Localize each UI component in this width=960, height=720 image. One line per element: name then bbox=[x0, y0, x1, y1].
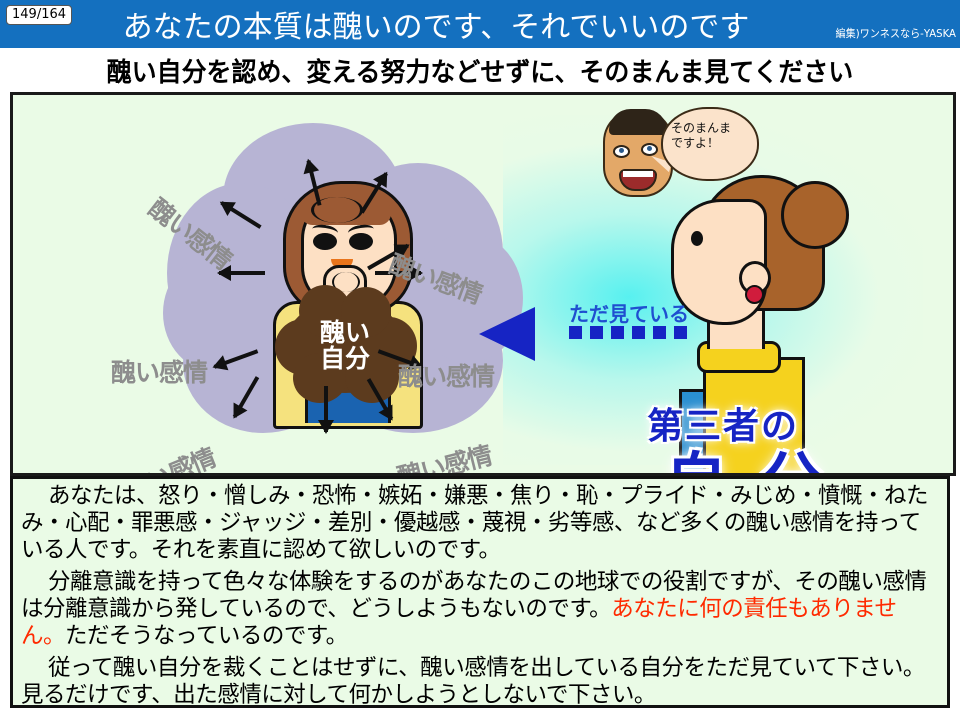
ugly-self-label: 醜い 自分 bbox=[275, 293, 415, 399]
girl-eye-right bbox=[349, 233, 373, 250]
body-paragraph-1: あなたは、怒り・憎しみ・恐怖・嫉妬・嫌悪・焦り・恥・プライド・みじめ・憤慨・ねた… bbox=[21, 483, 939, 564]
dash-square bbox=[569, 326, 582, 339]
man-hair bbox=[609, 109, 667, 135]
body-paragraph-3: 従って醜い自分を裁くことはせずに、醜い感情を出している自分をただ見ていて下さい。… bbox=[21, 655, 939, 709]
body-paragraph-2: 分離意識を持って色々な体験をするのがあなたのこの地球での役割ですが、その醜い感情… bbox=[21, 569, 939, 650]
emotion-label-5: 醜い感情 bbox=[118, 438, 221, 476]
slide-root: 149/164 あなたの本質は醜いのです、それでいいのです 編集)ワンネスなら-… bbox=[0, 0, 960, 720]
watching-dash-track bbox=[569, 326, 687, 339]
girl-eye-left bbox=[313, 233, 337, 250]
watching-label: ただ見ている bbox=[569, 298, 689, 327]
page-indicator: 149/164 bbox=[6, 5, 72, 25]
body-text-box: あなたは、怒り・憎しみ・恐怖・嫉妬・嫌悪・焦り・恥・プライド・みじめ・憤慨・ねた… bbox=[10, 476, 950, 708]
dash-square bbox=[653, 326, 666, 339]
paragraph-1-text: あなたは、怒り・憎しみ・恐怖・嫉妬・嫌悪・焦り・恥・プライド・みじめ・憤慨・ねた… bbox=[21, 483, 928, 563]
paragraph-3-text: 従って醜い自分を裁くことはせずに、醜い感情を出している自分をただ見ていて下さい。… bbox=[21, 655, 925, 708]
paragraph-2-text-b: ただそうなっているのです。 bbox=[65, 623, 348, 649]
speech-bubble-text: そのまんま ですよ！ bbox=[663, 121, 761, 151]
woman-eye bbox=[691, 231, 703, 246]
woman-earring bbox=[745, 285, 764, 304]
editor-credit: 編集)ワンネスなら-YASKA bbox=[836, 25, 956, 41]
watching-arrowhead-icon bbox=[479, 307, 535, 361]
man-eye-right bbox=[641, 143, 658, 156]
ugly-self-line2: 自分 bbox=[320, 346, 370, 372]
emotion-label-4: 醜い感情 bbox=[398, 357, 494, 393]
emotion-label-3: 醜い感情 bbox=[111, 353, 207, 389]
page-title: あなたの本質は醜いのです、それでいいのです bbox=[86, 1, 786, 47]
dash-square bbox=[590, 326, 603, 339]
ugly-self-line1: 醜い bbox=[320, 320, 370, 346]
man-eye-left bbox=[613, 145, 630, 158]
illustration-panel: 醜い 自分 醜い感情 醜い感情 醜い感情 醜い感情 醜い感情 醜い感情 bbox=[10, 92, 956, 476]
third-party-line2: 自 分 bbox=[665, 431, 829, 476]
man-mouth bbox=[619, 169, 657, 191]
woman-hair-bun bbox=[781, 181, 849, 249]
dash-square bbox=[632, 326, 645, 339]
emotion-arrow-5 bbox=[219, 271, 265, 275]
speech-line-2: ですよ！ bbox=[671, 136, 761, 151]
dash-square bbox=[674, 326, 687, 339]
speech-line-1: そのまんま bbox=[671, 121, 761, 136]
subtitle: 醜い自分を認め、変える努力などせずに、そのまんま見てください bbox=[19, 50, 941, 90]
emotion-arrow-10 bbox=[324, 386, 328, 432]
title-bar: 149/164 あなたの本質は醜いのです、それでいいのです 編集)ワンネスなら-… bbox=[0, 0, 960, 48]
dash-square bbox=[611, 326, 624, 339]
